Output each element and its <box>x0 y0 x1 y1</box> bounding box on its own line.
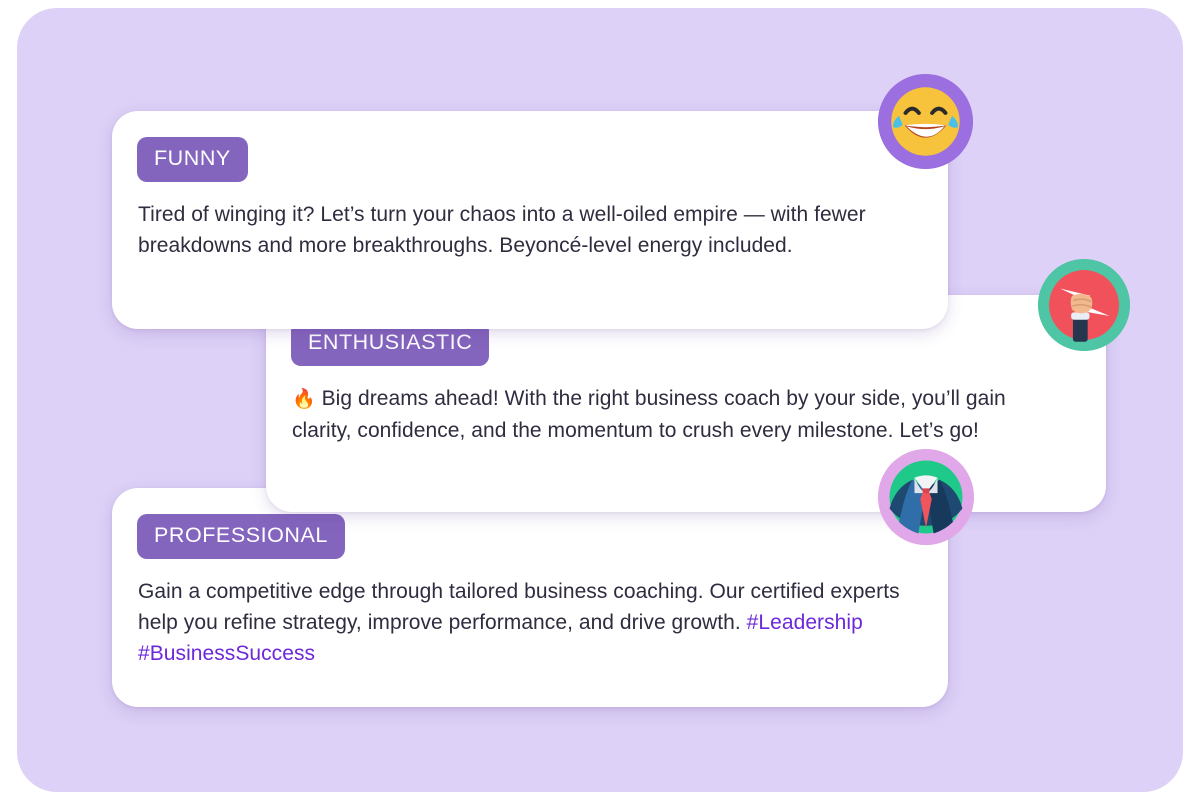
card-text-enthusiastic: Big dreams ahead! With the right busines… <box>292 387 1006 442</box>
tone-card-funny[interactable]: FUNNY Tired of winging it? Let’s turn yo… <box>112 111 948 329</box>
lightning-fist-icon <box>1038 259 1130 351</box>
fist-holding-lightning-bolt-avatar[interactable] <box>1038 259 1130 351</box>
business-suit-avatar[interactable] <box>878 449 974 545</box>
content-panel: FUNNY Tired of winging it? Let’s turn yo… <box>17 8 1183 792</box>
face-with-tears-of-joy-avatar[interactable] <box>878 74 973 169</box>
screenshot-stage: FUNNY Tired of winging it? Let’s turn yo… <box>0 0 1200 800</box>
tone-badge-professional[interactable]: PROFESSIONAL <box>137 514 345 559</box>
card-text-funny: Tired of winging it? Let’s turn your cha… <box>138 203 866 257</box>
tone-badge-funny[interactable]: FUNNY <box>137 137 248 182</box>
card-body-professional: Gain a competitive edge through tailored… <box>138 576 913 669</box>
tone-card-professional[interactable]: PROFESSIONAL Gain a competitive edge thr… <box>112 488 948 707</box>
suit-and-tie-icon <box>878 449 974 545</box>
card-body-enthusiastic: 🔥 Big dreams ahead! With the right busin… <box>292 383 1032 446</box>
fire-icon: 🔥 <box>292 388 316 410</box>
card-body-funny: Tired of winging it? Let’s turn your cha… <box>138 199 908 261</box>
badge-wrapper-professional: PROFESSIONAL <box>137 514 345 559</box>
badge-wrapper-funny: FUNNY <box>137 137 248 182</box>
joy-emoji-icon <box>878 74 973 169</box>
